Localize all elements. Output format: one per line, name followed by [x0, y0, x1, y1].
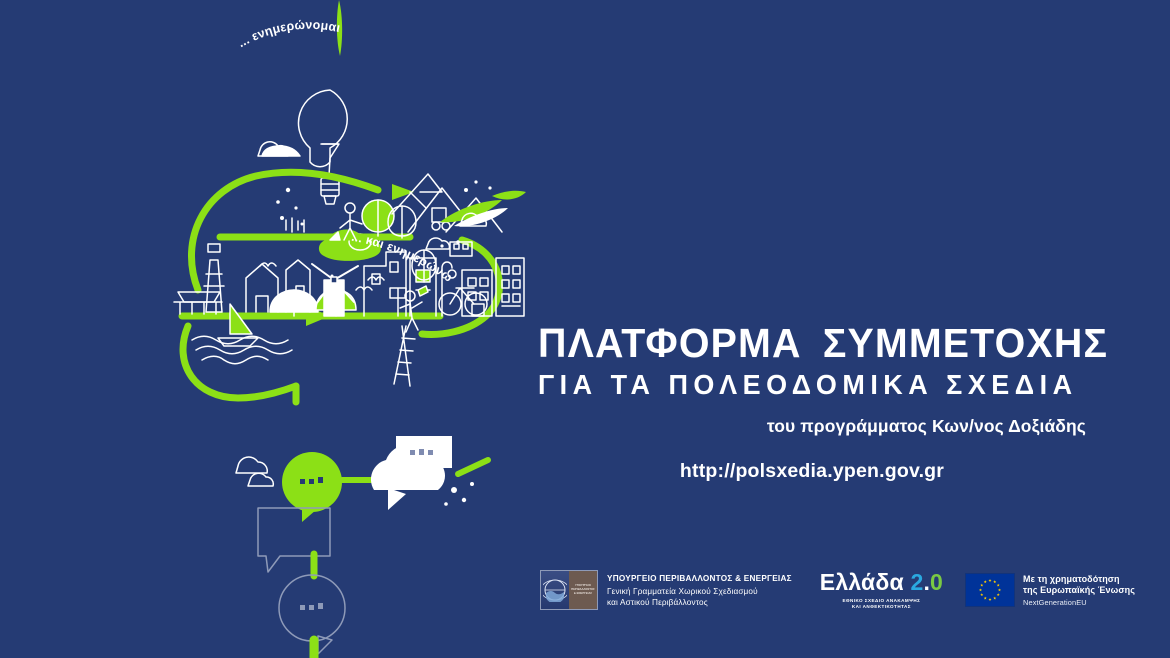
ministry-emblem-icon: ΥΠΟΥΡΓΕΙΟ ΠΕΡΙΒΑΛΛΟΝΤΟΣ & ΕΝΕΡΓΕΙΑΣ [540, 570, 598, 610]
sparkle-icon [276, 188, 303, 226]
car-icon [262, 146, 300, 156]
eu-flag-icon [965, 573, 1015, 607]
eu-text: Με τη χρηματοδότηση της Ευρωπαϊκής Ένωση… [1023, 574, 1135, 607]
ministry-plaque: ΥΠΟΥΡΓΕΙΟ ΠΕΡΙΒΑΛΛΟΝΤΟΣ & ΕΝΕΡΓΕΙΑΣ [569, 571, 597, 609]
eu-line2: της Ευρωπαϊκής Ένωσης [1023, 585, 1135, 595]
footer-logos: ΥΠΟΥΡΓΕΙΟ ΠΕΡΙΒΑΛΛΟΝΤΟΣ & ΕΝΕΡΓΕΙΑΣ ΥΠΟΥ… [540, 562, 1135, 618]
page-subtitle: ΓΙΑ ΤΑ ΠΟΛΕΟΔΟΜΙΚΑ ΣΧΕΔΙΑ [538, 368, 1087, 402]
ellada-logo: Ελλάδα 2.0 ΕΘΝΙΚΟ ΣΧΕΔΙΟ ΑΝΑΚΑΜΨΗΣ ΚΑΙ Α… [820, 571, 943, 609]
ellada-version-zero: 0 [930, 569, 943, 595]
website-url[interactable]: http://polsxedia.ypen.gov.gr [538, 460, 1086, 483]
speech-bubble-icon [236, 436, 488, 572]
pier-icon [174, 292, 222, 314]
ellada-name: Ελλάδα [820, 569, 904, 595]
ministry-logo: ΥΠΟΥΡΓΕΙΟ ΠΕΡΙΒΑΛΛΟΝΤΟΣ & ΕΝΕΡΓΕΙΑΣ ΥΠΟΥ… [540, 570, 792, 610]
banner-stage: ... ενημερώνομαι ... και ενημερώνω ΠΛΑΤΦ… [0, 0, 1170, 658]
eu-line3: NextGenerationEU [1023, 598, 1135, 607]
ladder-icon [394, 326, 415, 386]
page-title-part2: ΣΥΜΜΕΤΟΧΗΣ [823, 320, 1108, 366]
illustration-label-top: ... ενημερώνομαι [235, 18, 341, 50]
ellada-version-two: 2 [910, 569, 923, 595]
label-top-text: ... ενημερώνομαι [235, 18, 341, 50]
speech-bubble-icon [279, 554, 345, 658]
globe-icon [541, 571, 569, 609]
ellada-wordmark: Ελλάδα 2.0 [820, 571, 943, 594]
ministry-plaque-text: ΥΠΟΥΡΓΕΙΟ ΠΕΡΙΒΑΛΛΟΝΤΟΣ & ΕΝΕΡΓΕΙΑΣ [571, 584, 595, 596]
ministry-text: ΥΠΟΥΡΓΕΙΟ ΠΕΡΙΒΑΛΛΟΝΤΟΣ & ΕΝΕΡΓΕΙΑΣ Γενι… [607, 574, 792, 607]
ministry-line1: ΥΠΟΥΡΓΕΙΟ ΠΕΡΙΒΑΛΛΟΝΤΟΣ & ΕΝΕΡΓΕΙΑΣ [607, 574, 792, 583]
eu-line1: Με τη χρηματοδότηση [1023, 574, 1135, 584]
ministry-line3: και Αστικού Περιβάλλοντος [607, 598, 792, 607]
lightbulb-icon [299, 90, 348, 204]
page-title-part1: ΠΛΑΤΦΟΡΜΑ [538, 320, 802, 366]
ministry-line2: Γενική Γραμματεία Χωρικού Σχεδιασμού [607, 587, 792, 596]
page-title: ΠΛΑΤΦΟΡΜΑΣΥΜΜΕΤΟΧΗΣ [538, 322, 1076, 365]
person-climbing-icon [400, 286, 428, 332]
hero-illustration: ... ενημερώνομαι ... και ενημερώνω [110, 0, 530, 658]
title-block: ΠΛΑΤΦΟΡΜΑΣΥΜΜΕΤΟΧΗΣ ΓΙΑ ΤΑ ΠΟΛΕΟΔΟΜΙΚΑ Σ… [538, 322, 1098, 437]
ellada-sub2: ΚΑΙ ΑΝΘΕΚΤΙΚΟΤΗΤΑΣ [820, 604, 943, 609]
sea-icon [192, 336, 292, 364]
eu-funding-logo: Με τη χρηματοδότηση της Ευρωπαϊκής Ένωση… [965, 573, 1135, 607]
sailboat-icon [218, 304, 258, 346]
ellada-sub1: ΕΘΝΙΚΟ ΣΧΕΔΙΟ ΑΝΑΚΑΜΨΗΣ [820, 598, 943, 603]
programme-name: του προγράμματος Κων/νος Δοξιάδης [538, 416, 1086, 437]
building-icon [450, 242, 472, 256]
